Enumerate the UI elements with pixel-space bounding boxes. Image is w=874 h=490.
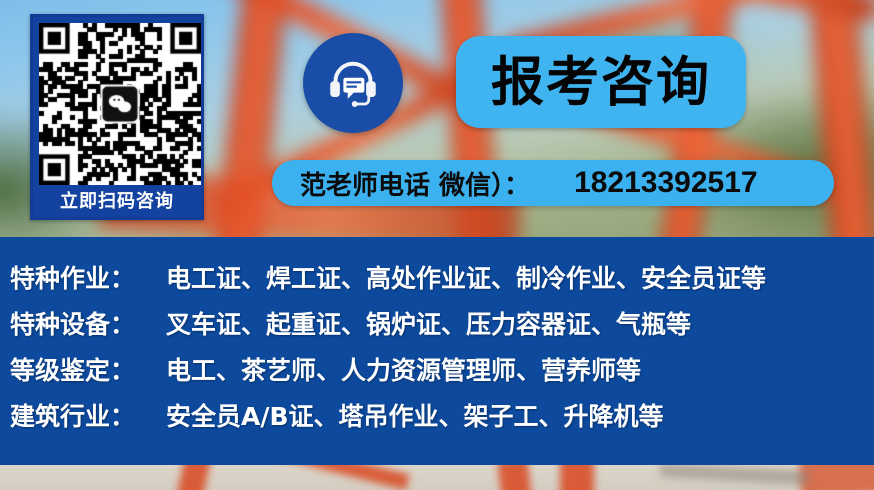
- promo-poster: 立即扫码咨询 报考咨询 范老师电话 微信）： 18213392517: [0, 0, 874, 490]
- category-label: 特种作业：: [10, 259, 162, 295]
- strip-crane-bar: [497, 465, 532, 490]
- qr-code-card[interactable]: 立即扫码咨询: [30, 14, 204, 220]
- category-label: 特种设备：: [10, 305, 162, 341]
- qr-canvas: [39, 23, 201, 185]
- category-row-3: 建筑行业： 安全员A/B证、塔吊作业、架子工、升降机等: [0, 397, 874, 443]
- category-value: 叉车证、起重证、锅炉证、压力容器证、气瓶等: [166, 305, 691, 341]
- category-row-2: 等级鉴定： 电工、茶艺师、人力资源管理师、营养师等: [0, 351, 874, 397]
- phone-number[interactable]: 18213392517: [574, 166, 758, 200]
- qr-code-image[interactable]: [39, 23, 201, 185]
- strip-crane-bar: [799, 465, 874, 490]
- category-row-0: 特种作业： 电工证、焊工证、高处作业证、制冷作业、安全员证等: [0, 259, 874, 305]
- category-label: 建筑行业：: [10, 397, 162, 433]
- title-pill-label: 报考咨询: [491, 56, 711, 109]
- category-value: 电工、茶艺师、人力资源管理师、营养师等: [166, 351, 641, 387]
- hero-banner: 立即扫码咨询 报考咨询 范老师电话 微信）： 18213392517: [0, 0, 874, 237]
- category-value: 安全员A/B证、塔吊作业、架子工、升降机等: [166, 397, 664, 433]
- phone-pill[interactable]: 范老师电话 微信）： 18213392517: [272, 160, 834, 206]
- bottom-photo-strip: [0, 465, 874, 490]
- headset-support-icon: [303, 33, 403, 133]
- category-panel: 特种作业： 电工证、焊工证、高处作业证、制冷作业、安全员证等 特种设备： 叉车证…: [0, 237, 874, 465]
- phone-label: 范老师电话 微信）：: [300, 165, 530, 202]
- category-value: 电工证、焊工证、高处作业证、制冷作业、安全员证等: [166, 259, 766, 295]
- category-row-1: 特种设备： 叉车证、起重证、锅炉证、压力容器证、气瓶等: [0, 305, 874, 351]
- title-pill-baokao-zixun[interactable]: 报考咨询: [456, 36, 746, 128]
- qr-caption: 立即扫码咨询: [39, 185, 195, 219]
- category-label: 等级鉴定：: [10, 351, 162, 387]
- strip-crane-bar: [560, 465, 594, 490]
